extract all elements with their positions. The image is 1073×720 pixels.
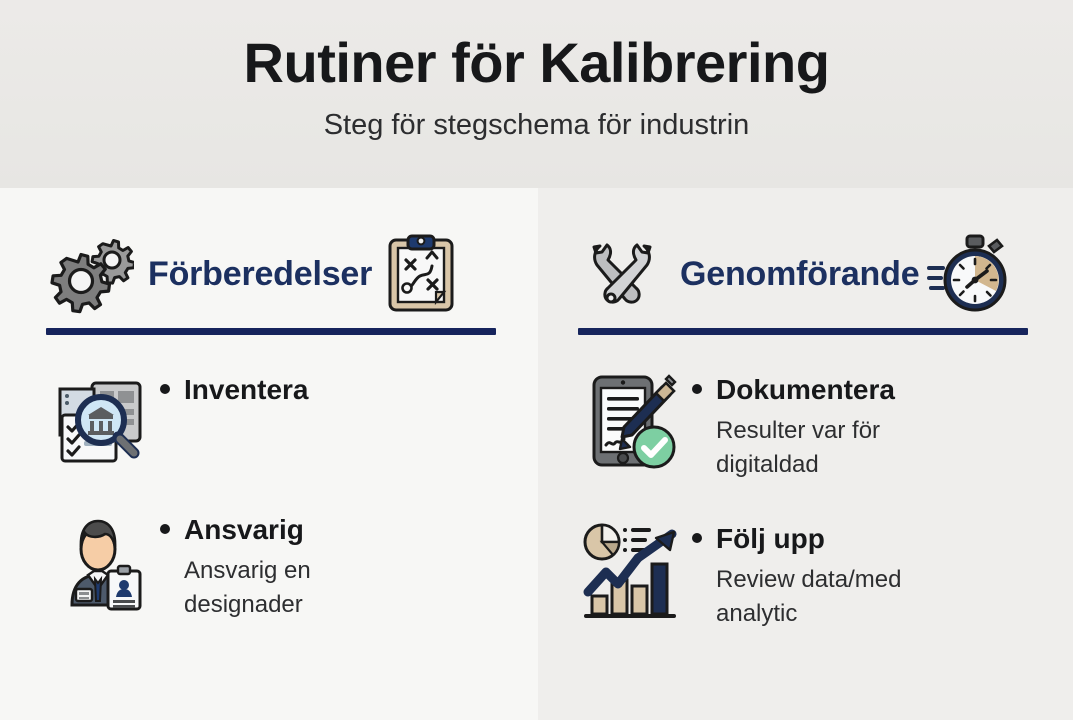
section-divider-genomforande (578, 328, 1028, 335)
item-description: Ansvarig en designader (184, 554, 434, 622)
items-forberedelser: Inventera (46, 369, 498, 622)
item-title-label: Följ upp (716, 523, 825, 554)
item-text: Följ upp Review data/med analytic (692, 518, 986, 631)
columns-container: Förberedelser (0, 188, 1073, 720)
item-title: Följ upp (692, 524, 986, 555)
item-description: Review data/med analytic (716, 563, 986, 631)
item-text: Dokumentera Resulter var för digitaldad (692, 369, 986, 482)
item-text: Ansvarig Ansvarig en designader (160, 509, 434, 622)
gears-icon (46, 234, 134, 314)
section-header-forberedelser: Förberedelser (46, 226, 498, 322)
section-title-forberedelser: Förberedelser (148, 255, 372, 294)
person-badge-icon (46, 509, 150, 613)
items-genomforande: Dokumentera Resulter var för digitaldad (578, 369, 1033, 631)
item-title: Ansvarig (160, 515, 434, 546)
item-title-label: Dokumentera (716, 374, 895, 405)
clipboard-strategy-icon (380, 232, 464, 316)
header-band: Rutiner för Kalibrering Steg för stegsch… (0, 0, 1073, 188)
infographic-poster: Rutiner för Kalibrering Steg för stegsch… (0, 0, 1073, 720)
page-title: Rutiner för Kalibrering (244, 34, 830, 93)
item-title: Dokumentera (692, 375, 986, 406)
list-item[interactable]: Följ upp Review data/med analytic (578, 518, 1033, 631)
stopwatch-icon (927, 232, 1011, 316)
section-divider-forberedelser (46, 328, 496, 335)
item-description: Resulter var för digitaldad (716, 414, 986, 482)
bullet-icon (692, 533, 702, 543)
list-item[interactable]: Dokumentera Resulter var för digitaldad (578, 369, 1033, 482)
item-title-label: Ansvarig (184, 514, 304, 545)
analytics-chart-icon (578, 518, 682, 622)
bullet-icon (160, 524, 170, 534)
bullet-icon (160, 384, 170, 394)
tablet-signature-check-icon (578, 369, 682, 473)
item-title-label: Inventera (184, 374, 309, 405)
item-text: Inventera (160, 369, 309, 414)
section-title-genomforande: Genomförande (680, 255, 919, 294)
list-item[interactable]: Inventera (46, 369, 498, 473)
bullet-icon (692, 384, 702, 394)
column-forberedelser: Förberedelser (0, 188, 538, 720)
column-genomforande: Genomförande (538, 188, 1073, 720)
item-title: Inventera (160, 375, 309, 406)
crossed-wrench-icon (578, 234, 666, 314)
list-item[interactable]: Ansvarig Ansvarig en designader (46, 509, 498, 622)
section-header-genomforande: Genomförande (578, 226, 1033, 322)
page-subtitle: Steg för stegschema för industrin (324, 109, 750, 142)
inventory-magnifier-icon (46, 369, 150, 473)
